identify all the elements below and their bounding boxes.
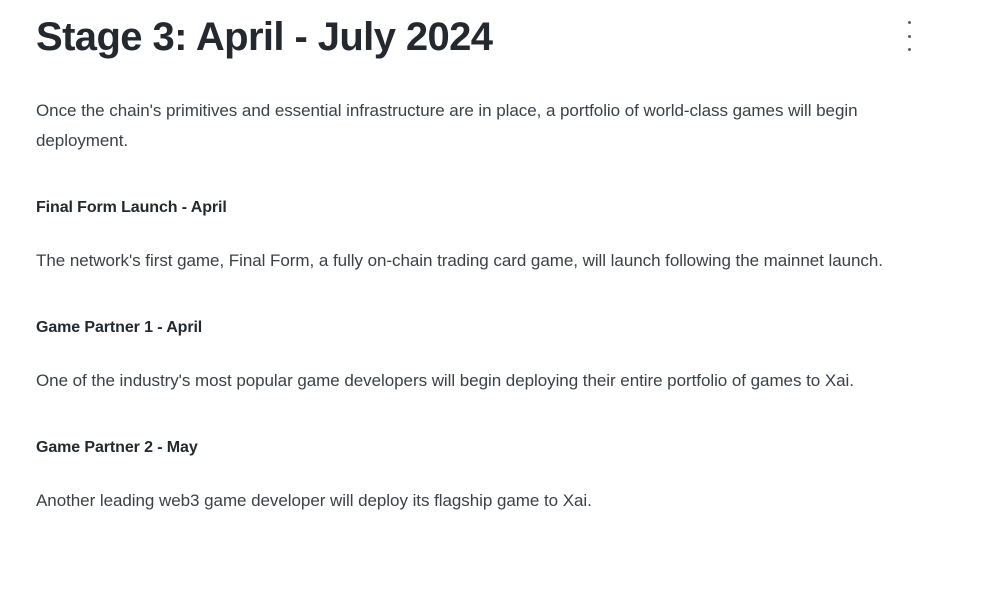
- spacer: [36, 460, 945, 486]
- spacer: [36, 220, 945, 246]
- kebab-dot-middle: [908, 35, 911, 38]
- kebab-dot-top: [908, 21, 911, 24]
- intro-paragraph: Once the chain's primitives and essentia…: [36, 96, 936, 156]
- section-body-final-form-launch: The network's first game, Final Form, a …: [36, 246, 945, 276]
- page-header: Stage 3: April - July 2024: [36, 0, 945, 62]
- spacer: [36, 156, 945, 196]
- spacer: [36, 340, 945, 366]
- document-page: Stage 3: April - July 2024 Once the chai…: [0, 0, 981, 612]
- section-body-game-partner-2: Another leading web3 game developer will…: [36, 486, 945, 516]
- page-title: Stage 3: April - July 2024: [36, 12, 492, 62]
- spacer: [36, 396, 945, 436]
- document-content: Once the chain's primitives and essentia…: [36, 96, 945, 516]
- spacer: [36, 276, 945, 316]
- section-heading-game-partner-1: Game Partner 1 - April: [36, 316, 945, 340]
- section-heading-game-partner-2: Game Partner 2 - May: [36, 436, 945, 460]
- section-body-game-partner-1: One of the industry's most popular game …: [36, 366, 945, 396]
- kebab-dot-bottom: [908, 48, 911, 51]
- kebab-menu-icon[interactable]: [898, 19, 920, 53]
- section-heading-final-form-launch: Final Form Launch - April: [36, 196, 945, 220]
